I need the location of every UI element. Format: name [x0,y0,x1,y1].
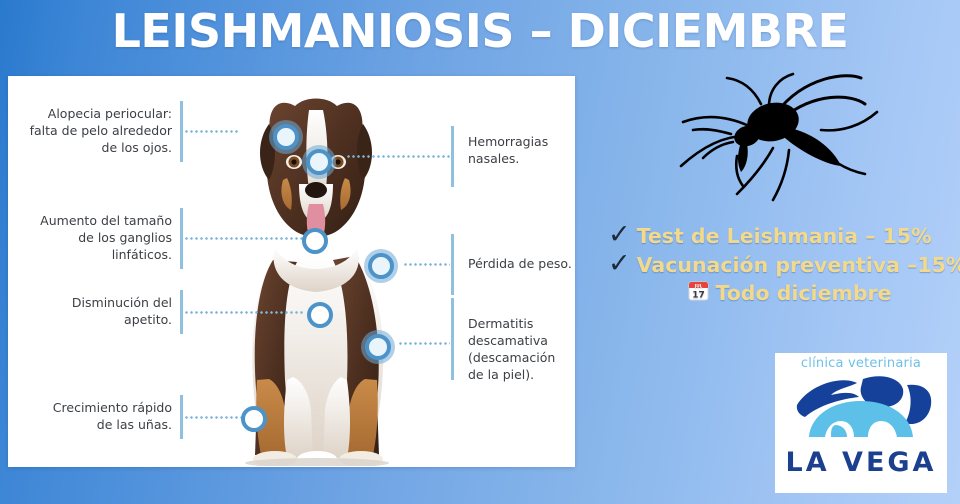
marker-dermatitis[interactable] [365,334,391,360]
marker-ganglios[interactable] [302,228,328,254]
symptom-label-unas: Crecimiento rápido de las uñas. [22,399,172,433]
logo-subtitle: clínica veterinaria [775,353,947,371]
svg-text:JUL: JUL [694,283,703,288]
mosquito-icon [665,70,890,205]
marker-unas[interactable] [241,406,267,432]
tick-bar-dermatitis [451,298,454,380]
tick-bar-unas [180,395,183,439]
marker-peso[interactable] [368,253,394,279]
promo-footer-label: Todo diciembre [715,281,891,305]
tick-bar-peso [451,234,454,295]
connector-apetito [184,311,304,314]
clinic-logo[interactable]: clínica veterinaria LA VEGA [775,353,947,493]
marker-alopecia[interactable] [273,124,299,150]
connector-alopecia [184,130,239,133]
promo-item-vacunacion-label: Vacunación preventiva –15% [637,253,960,277]
tick-bar-hemorragias [451,126,454,187]
symptom-label-apetito: Disminución del apetito. [22,294,172,328]
symptoms-card: Alopecia periocular: falta de pelo alred… [8,76,575,467]
symptom-label-ganglios: Aumento del tamaño de los ganglios linfá… [22,212,172,263]
promo-footer: JUL 17 Todo diciembre [608,280,958,305]
tick-bar-alopecia [180,101,183,162]
check-mark-icon: ✓ [608,250,631,277]
promo-item-test-label: Test de Leishmania – 15% [637,224,932,248]
symptom-label-peso: Pérdida de peso. [468,255,583,272]
logo-mark [775,371,947,449]
symptom-label-hemorragias: Hemorragias nasales. [468,133,578,167]
tick-bar-ganglios [180,208,183,269]
page-title: LEISHMANIOSIS – DICIEMBRE [0,4,960,58]
symptom-label-dermatitis: Dermatitis descamativa (descamación de l… [468,315,578,383]
marker-apetito[interactable] [307,302,333,328]
tick-bar-apetito [180,290,183,334]
marker-hemorragias[interactable] [306,149,332,175]
calendar-icon: JUL 17 [688,280,709,305]
connector-ganglios [184,237,304,240]
symptom-label-alopecia: Alopecia periocular: falta de pelo alred… [22,105,172,156]
connector-dermatitis [398,342,450,345]
connector-unas [184,416,242,419]
connector-peso [403,263,450,266]
svg-text:17: 17 [693,290,706,300]
check-mark-icon: ✓ [608,221,631,248]
promo-block: ✓ Test de Leishmania – 15% ✓ Vacunación … [608,222,958,307]
promo-item-vacunacion: ✓ Vacunación preventiva –15% [608,251,958,278]
logo-name: LA VEGA [775,447,947,478]
connector-hemorragias [346,155,450,158]
promo-item-test: ✓ Test de Leishmania – 15% [608,222,958,249]
